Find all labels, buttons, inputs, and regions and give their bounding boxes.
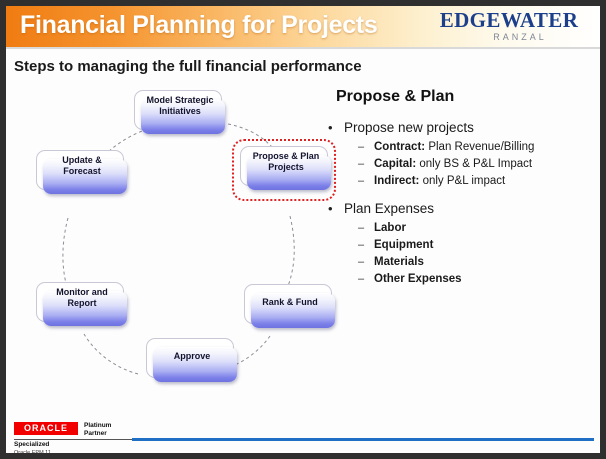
- slide-frame: Financial Planning for Projects EDGEWATE…: [0, 0, 606, 459]
- footer-divider-blue: [132, 438, 594, 441]
- group-spacer: [328, 192, 596, 201]
- edgewater-logo: EDGEWATER RANZAL: [434, 10, 584, 42]
- logo-subtitle: RANZAL: [456, 33, 584, 42]
- dash-bullet-icon: –: [358, 273, 374, 285]
- partner-level: Platinum Partner: [84, 422, 111, 437]
- sub-bullet-labor: – Labor: [358, 222, 596, 234]
- partner-line-2: Partner: [84, 430, 111, 438]
- partner-line-1: Platinum: [84, 422, 111, 430]
- title-divider: [6, 47, 600, 49]
- logo-wordmark: EDGEWATER: [434, 10, 584, 31]
- sub-bullet-indirect: – Indirect: only P&L impact: [358, 175, 596, 187]
- sub-bullet-text: Labor: [374, 222, 406, 234]
- slide-subtitle: Steps to managing the full financial per…: [14, 58, 362, 75]
- dash-bullet-icon: –: [358, 158, 374, 170]
- dash-bullet-icon: –: [358, 175, 374, 187]
- arc-approve-to-monitor: [84, 334, 138, 374]
- bullet-dot-icon: •: [328, 201, 344, 216]
- node-label: Monitor and Report: [38, 287, 126, 309]
- sub-bullet-text: Materials: [374, 256, 424, 268]
- node-label: Update & Forecast: [38, 155, 126, 177]
- specialized-label: Specialized: [14, 441, 51, 449]
- sub-bullet-other-expenses: – Other Expenses: [358, 273, 596, 285]
- sub-bullet-text: Contract: Plan Revenue/Billing: [374, 141, 534, 153]
- dash-bullet-icon: –: [358, 256, 374, 268]
- slide-title-bar: Financial Planning for Projects EDGEWATE…: [6, 6, 600, 47]
- cycle-node-rank-fund[interactable]: Rank & Fund: [244, 284, 332, 324]
- specialized-product: Oracle EPM 11: [14, 449, 51, 453]
- oracle-logo: ORACLE: [14, 422, 78, 435]
- cycle-node-monitor-report[interactable]: Monitor and Report: [36, 282, 124, 322]
- bullet-text: Propose new projects: [344, 120, 474, 135]
- sub-bullet-contract: – Contract: Plan Revenue/Billing: [358, 141, 596, 153]
- propose-plan-highlight-ring: [232, 139, 336, 201]
- sub-bullet-capital: – Capital: only BS & P&L Impact: [358, 158, 596, 170]
- footer-divider-dark: [14, 439, 132, 440]
- sub-bullet-text: Indirect: only P&L impact: [374, 175, 505, 187]
- node-label: Approve: [148, 351, 236, 362]
- dash-bullet-icon: –: [358, 239, 374, 251]
- cycle-node-update-forecast[interactable]: Update & Forecast: [36, 150, 124, 190]
- cycle-node-approve[interactable]: Approve: [146, 338, 234, 378]
- slide-footer: ORACLE Platinum Partner Specialized Orac…: [14, 422, 594, 452]
- sub-bullet-materials: – Materials: [358, 256, 596, 268]
- node-label: Rank & Fund: [246, 297, 334, 308]
- cycle-node-model-strategic-initiatives[interactable]: Model Strategic Initiatives: [134, 90, 222, 130]
- specialization-note: Specialized Oracle EPM 11: [14, 441, 51, 453]
- process-cycle-diagram: Model Strategic Initiatives Propose & Pl…: [16, 88, 332, 388]
- content-panel: Propose & Plan • Propose new projects – …: [328, 88, 596, 290]
- slide-canvas: Financial Planning for Projects EDGEWATE…: [6, 6, 600, 453]
- bullet-dot-icon: •: [328, 120, 344, 135]
- sub-bullet-text: Other Expenses: [374, 273, 462, 285]
- dash-bullet-icon: –: [358, 141, 374, 153]
- oracle-partner-badge: ORACLE Platinum Partner: [14, 422, 111, 437]
- bullet-propose-new-projects: • Propose new projects: [328, 120, 596, 135]
- page-title: Financial Planning for Projects: [20, 11, 377, 40]
- dash-bullet-icon: –: [358, 222, 374, 234]
- bullet-text: Plan Expenses: [344, 201, 434, 216]
- sub-bullet-text: Equipment: [374, 239, 433, 251]
- content-heading: Propose & Plan: [328, 88, 596, 106]
- bullet-plan-expenses: • Plan Expenses: [328, 201, 596, 216]
- node-label: Model Strategic Initiatives: [136, 95, 224, 117]
- sub-bullet-equipment: – Equipment: [358, 239, 596, 251]
- sub-bullet-text: Capital: only BS & P&L Impact: [374, 158, 532, 170]
